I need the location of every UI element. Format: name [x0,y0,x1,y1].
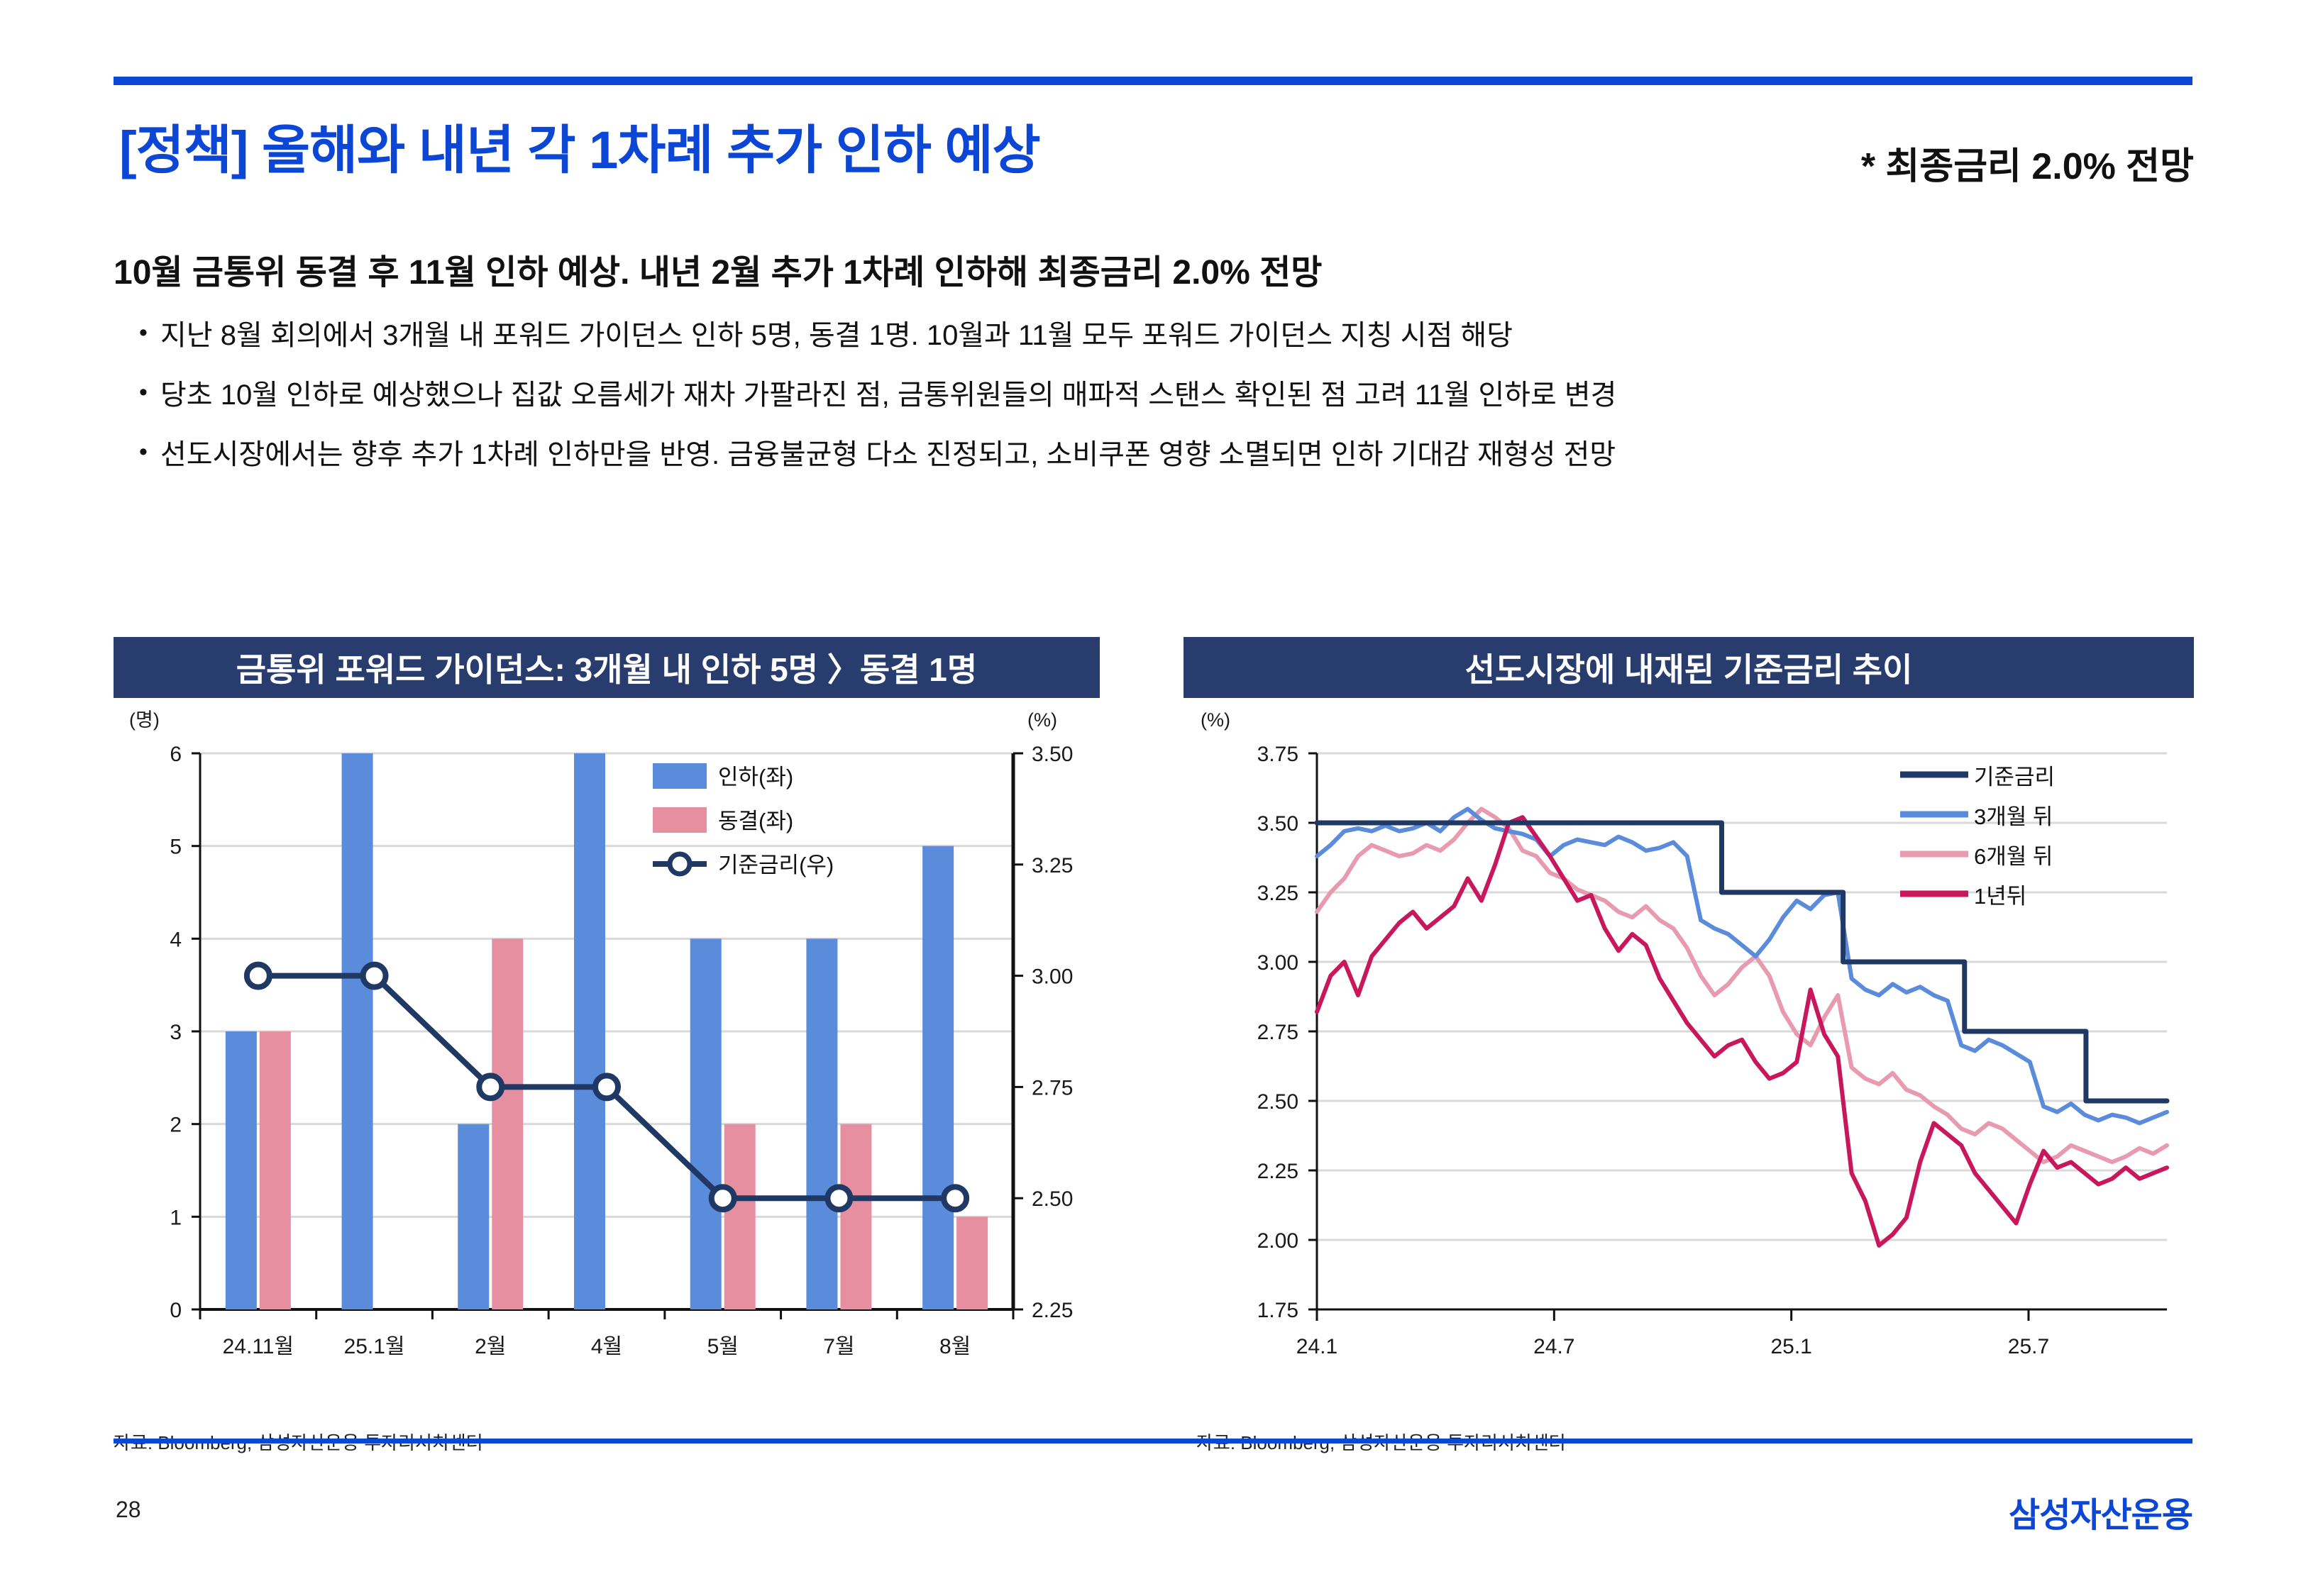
bar-hold [840,1124,871,1309]
svg-text:2월: 2월 [475,1335,506,1358]
svg-text:24.11월: 24.11월 [223,1335,294,1358]
svg-text:6개월 뒤: 6개월 뒤 [1974,844,2053,869]
bar-hold [956,1217,988,1309]
svg-text:25.7: 25.7 [2008,1335,2049,1358]
svg-text:기준금리: 기준금리 [1974,765,2055,789]
svg-text:6: 6 [170,743,182,766]
header-top-rule [114,77,2192,85]
page-number: 28 [116,1497,141,1523]
svg-text:3.00: 3.00 [1257,951,1298,975]
bullet-text: 지난 8월 회의에서 3개월 내 포워드 가이던스 인하 5명, 동결 1명. … [160,319,1513,352]
chart-panel-right: 선도시장에 내재된 기준금리 추이 (%)1.752.002.252.502.7… [1184,637,2194,1464]
svg-text:2.50: 2.50 [1257,1090,1298,1114]
bar-cut [574,753,605,1309]
svg-text:5: 5 [170,836,182,859]
svg-text:25.1: 25.1 [1770,1335,1811,1358]
bar-hold [492,938,523,1309]
svg-text:24.7: 24.7 [1533,1335,1574,1358]
chart-body-right: (%)1.752.002.252.502.753.003.253.503.752… [1184,698,2194,1464]
policy-rate-marker [827,1187,850,1209]
svg-text:동결(좌): 동결(좌) [718,809,793,833]
svg-text:3.00: 3.00 [1032,965,1073,989]
svg-text:2: 2 [170,1114,182,1137]
chart-title-left: 금통위 포워드 가이던스: 3개월 내 인하 5명 〉동결 1명 [114,637,1100,698]
svg-text:3.25: 3.25 [1257,882,1298,905]
svg-text:4: 4 [170,928,182,951]
policy-rate-marker [479,1075,502,1098]
bar-cut [458,1124,489,1309]
bar-cut [922,846,954,1309]
svg-text:25.1월: 25.1월 [344,1335,405,1358]
svg-text:8월: 8월 [939,1335,971,1358]
bar-cut [226,1031,257,1309]
svg-text:24.1: 24.1 [1296,1335,1337,1358]
svg-text:2.75: 2.75 [1032,1076,1073,1099]
svg-text:1: 1 [170,1206,182,1229]
svg-text:5월: 5월 [707,1335,739,1358]
bar-hold [260,1031,291,1309]
policy-rate-marker [247,965,270,987]
page-title: [정책] 올해와 내년 각 1차례 추가 인하 예상 [119,108,1040,184]
header-note: * 최종금리 2.0% 전망 [1861,136,2194,189]
chart-panel-left: 금통위 포워드 가이던스: 3개월 내 인하 5명 〉동결 1명 (명)(%)0… [114,637,1100,1464]
svg-text:(%): (%) [1027,709,1057,731]
company-logo: 삼성자산운용 [2009,1487,2192,1536]
svg-text:3.50: 3.50 [1257,812,1298,836]
slide: [정책] 올해와 내년 각 1차례 추가 인하 예상 * 최종금리 2.0% 전… [0,0,2306,1596]
svg-text:3.75: 3.75 [1257,743,1298,766]
svg-text:4월: 4월 [591,1335,622,1358]
svg-text:3.50: 3.50 [1032,743,1073,766]
bar-cut [690,938,722,1309]
svg-text:(명): (명) [129,709,160,731]
svg-text:3: 3 [170,1021,182,1044]
lead-statement: 10월 금통위 동결 후 11월 인하 예상. 내년 2월 추가 1차례 인하해… [114,244,1322,294]
svg-text:7월: 7월 [823,1335,854,1358]
bullet-marker-icon: • [139,438,160,466]
list-item: • 지난 8월 회의에서 3개월 내 포워드 가이던스 인하 5명, 동결 1명… [139,319,2197,352]
bar-hold [724,1124,756,1309]
bullet-text: 선도시장에서는 향후 추가 1차례 인하만을 반영. 금융불균형 다소 진정되고… [160,438,1616,471]
svg-text:2.00: 2.00 [1257,1229,1298,1253]
policy-rate-marker [363,965,386,987]
bar-cut [806,938,837,1309]
svg-text:(%): (%) [1201,709,1230,731]
policy-rate-marker [944,1187,966,1209]
svg-text:2.50: 2.50 [1032,1187,1073,1211]
svg-text:인하(좌): 인하(좌) [718,765,793,789]
bar-chart-mpc: (명)(%)01234562.252.502.753.003.253.5024.… [114,698,1100,1464]
svg-text:1.75: 1.75 [1257,1299,1298,1322]
policy-rate-marker [595,1075,618,1098]
bullet-marker-icon: • [139,319,160,347]
svg-text:0: 0 [170,1299,182,1322]
svg-text:3.25: 3.25 [1032,854,1073,877]
list-item: • 당초 10월 인하로 예상했으나 집값 오름세가 재차 가팔라진 점, 금통… [139,379,2197,411]
svg-text:2.25: 2.25 [1257,1160,1298,1183]
bullet-marker-icon: • [139,379,160,406]
chart-title-right: 선도시장에 내재된 기준금리 추이 [1184,637,2194,698]
svg-text:기준금리(우): 기준금리(우) [718,853,834,877]
line-chart-forward-rates: (%)1.752.002.252.502.753.003.253.503.752… [1184,698,2194,1464]
svg-text:1년뒤: 1년뒤 [1974,884,2026,909]
list-item: • 선도시장에서는 향후 추가 1차례 인하만을 반영. 금융불균형 다소 진정… [139,438,2197,471]
chart-body-left: (명)(%)01234562.252.502.753.003.253.5024.… [114,698,1100,1464]
bullet-list: • 지난 8월 회의에서 3개월 내 포워드 가이던스 인하 5명, 동결 1명… [139,319,2197,498]
bullet-text: 당초 10월 인하로 예상했으나 집값 오름세가 재차 가팔라진 점, 금통위원… [160,379,1616,411]
svg-text:2.75: 2.75 [1257,1021,1298,1044]
footer-rule [114,1439,2192,1443]
policy-rate-marker [712,1187,734,1209]
svg-text:3개월 뒤: 3개월 뒤 [1974,804,2053,829]
bar-cut [342,753,373,1309]
svg-text:2.25: 2.25 [1032,1299,1073,1322]
